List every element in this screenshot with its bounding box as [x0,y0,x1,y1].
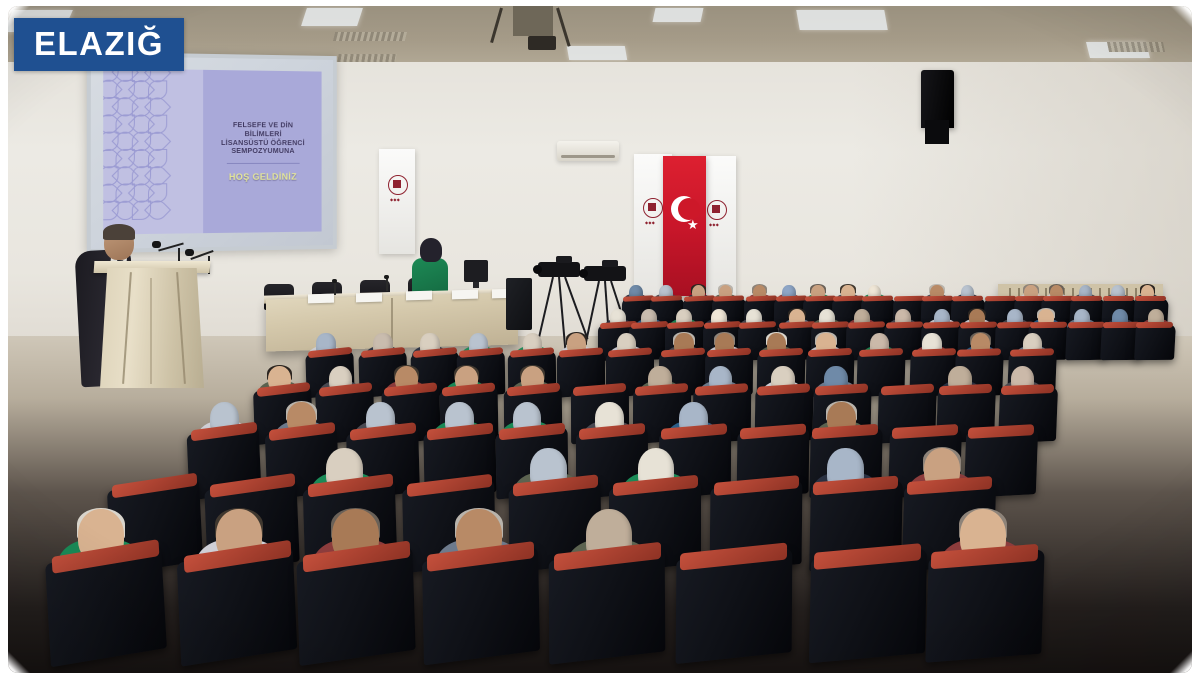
projector-mount [513,6,553,36]
university-banner-left: ◆◆◆ [379,149,415,254]
panel-name-card [452,290,478,300]
university-logo-icon [707,200,727,220]
slide-divider [227,163,300,164]
auditorium-seat-trim [985,296,1016,301]
auditorium-seat-trim [848,321,885,328]
panel-monitor [464,260,488,282]
auditorium-seat-trim [1043,296,1074,301]
auditorium-seat-trim [922,321,959,328]
auditorium-seat-trim [886,321,923,328]
ceiling-vent [1107,42,1165,52]
panel-name-card [406,291,432,301]
camera-lens-icon [579,269,588,278]
camera-lens-icon [533,265,542,274]
auditorium-seat-trim [960,321,997,328]
floor-pa-speaker [506,278,532,330]
projection-screen: FELSEFE VE DİN BİLİMLERİ LİSANSÜSTÜ ÖĞRE… [87,52,337,253]
auditorium-seat [1134,324,1176,360]
ceiling-light-panel [653,8,704,22]
projection-screen-surface: FELSEFE VE DİN BİLİMLERİ LİSANSÜSTÜ ÖĞRE… [91,56,333,249]
auditorium-seat-trim [1103,296,1134,301]
ceiling-light-panel [567,46,627,60]
auditorium-seat-trim [1068,322,1105,328]
auditorium-photograph: FELSEFE VE DİN BİLİMLERİ LİSANSÜSTÜ ÖĞRE… [8,6,1192,673]
camera-body [538,262,580,277]
university-logo-caption: ◆◆◆ [390,197,400,202]
auditorium-seat-trim [1071,296,1102,301]
air-conditioner-unit [557,141,619,161]
panel-name-card [356,293,382,303]
ceiling-vent [333,32,407,41]
ceiling-vent [337,54,396,62]
table-microphone-icon [386,278,388,291]
auditorium-seat-trim [1135,296,1166,301]
moderator-headscarf [420,238,442,262]
moderator-torso [412,258,448,294]
auditorium-seat-trim [1136,322,1173,328]
podium-microphone-icon [185,249,194,256]
slide-title-line: SEMPOZYUMUNA [231,147,294,156]
panel-name-card [308,294,334,304]
screenshot-root: FELSEFE VE DİN BİLİMLERİ LİSANSÜSTÜ ÖĞRE… [0,0,1200,679]
turkish-flag: ★ [663,156,706,296]
elazig-watermark: ELAZIĞ [14,18,184,71]
wall-speaker [921,70,954,128]
university-logo-icon [388,175,408,195]
slide-text-pane: FELSEFE VE DİN BİLİMLERİ LİSANSÜSTÜ ÖĞRE… [204,70,322,233]
podium-microphone-icon [152,241,161,248]
camera-body [584,266,626,281]
speaker-podium [100,268,204,388]
university-logo-caption: ◆◆◆ [645,220,655,225]
ceiling-light-panel [796,10,888,30]
slide-ornament-pattern [103,68,208,234]
auditorium-seat-trim [1102,322,1139,328]
podium-trim [150,278,152,384]
auditorium-seat-trim [996,321,1033,328]
camera-viewfinder [602,260,618,267]
projector-icon [528,36,556,50]
star-icon: ★ [687,218,699,231]
university-logo-icon [643,198,663,218]
auditorium-seat-trim [952,296,983,301]
slide-welcome-text: HOŞ GELDİNİZ [229,171,297,181]
table-microphone-icon [334,282,336,295]
university-logo-caption: ◆◆◆ [709,222,719,227]
auditorium-seat-trim [894,296,925,302]
speaker-hair [103,224,135,240]
presentation-slide: FELSEFE VE DİN BİLİMLERİ LİSANSÜSTÜ ÖĞRE… [103,68,321,234]
camera-viewfinder [556,256,572,263]
ceiling-light-panel [301,8,363,26]
auditorium-seat-trim [922,296,953,301]
auditorium-seat-trim [1030,321,1067,327]
